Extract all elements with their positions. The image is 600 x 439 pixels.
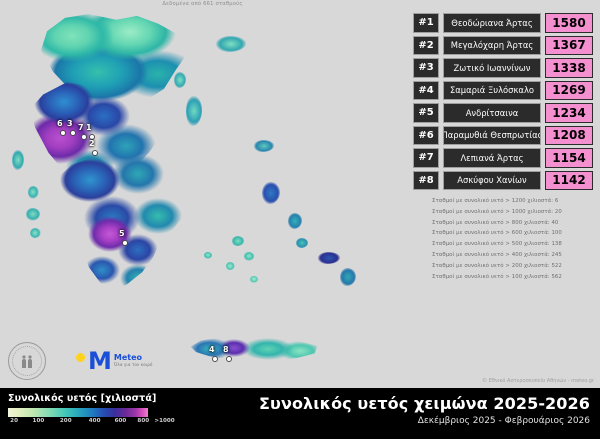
- meteo-tagline: Όλα για τον καιρό: [114, 363, 153, 367]
- table-row[interactable]: #4 Σαμαριά Ξυλόσκαλο 1269: [413, 81, 593, 101]
- meteo-logo: M Meteo Όλα για τον καιρό: [76, 351, 152, 371]
- station-cell: Μεγαλόχαρη Άρτας: [443, 36, 541, 56]
- map-marker-7[interactable]: [81, 134, 87, 140]
- table-row[interactable]: #1 Θεοδώριανα Άρτας 1580: [413, 13, 593, 33]
- value-cell: 1208: [545, 126, 593, 146]
- page-subtitle: Δεκέμβριος 2025 - Φεβρουάριος 2026: [259, 416, 590, 426]
- legend-title: Συνολικός υετός [χιλιοστά]: [8, 393, 188, 404]
- list-item: Σταθμοί με συνολικό υετό > 200 χιλιοστά:…: [432, 261, 600, 272]
- rank-cell: #3: [413, 58, 439, 78]
- map-marker-2[interactable]: [92, 150, 98, 156]
- rank-cell: #7: [413, 148, 439, 168]
- map-marker-5[interactable]: [122, 240, 128, 246]
- colorbar-legend: Συνολικός υετός [χιλιοστά] 20 100 200 40…: [8, 393, 188, 429]
- map-marker-label-2: 2: [89, 140, 95, 148]
- list-item: Σταθμοί με συνολικό υετό > 600 χιλιοστά:…: [432, 228, 600, 239]
- threshold-statistics-list: Σταθμοί με συνολικό υετό > 1200 χιλιοστά…: [432, 196, 600, 282]
- colorbar-tick-labels: 20 100 200 400 600 800 >1000: [8, 418, 160, 429]
- logo-group: M Meteo Όλα για τον καιρό: [8, 342, 152, 380]
- station-cell: Λεπιανά Άρτας: [443, 148, 541, 168]
- table-row[interactable]: #3 Ζωτικό Ιωαννίνων 1338: [413, 58, 593, 78]
- map-marker-label-1: 1: [86, 124, 92, 132]
- map-marker-3[interactable]: [70, 130, 76, 136]
- colorbar-tick: >1000: [154, 418, 174, 424]
- top-stations-table: #1 Θεοδώριανα Άρτας 1580 #2 Μεγαλόχαρη Ά…: [413, 13, 593, 193]
- list-item: Σταθμοί με συνολικό υετό > 1000 χιλιοστά…: [432, 207, 600, 218]
- colorbar-tick: 400: [89, 418, 101, 424]
- station-cell: Ζωτικό Ιωαννίνων: [443, 58, 541, 78]
- mainland-greece-landmass: [30, 14, 280, 274]
- rank-cell: #1: [413, 13, 439, 33]
- rank-cell: #2: [413, 36, 439, 56]
- map-panel[interactable]: Δεδομένα από 661 σταθμούς 6 3 7: [0, 0, 405, 388]
- map-marker-label-7: 7: [78, 124, 84, 132]
- map-marker-4[interactable]: [212, 356, 218, 362]
- list-item: Σταθμοί με συνολικό υετό > 1200 χιλιοστά…: [432, 196, 600, 207]
- station-cell: Σαμαριά Ξυλόσκαλο: [443, 81, 541, 101]
- map-marker-label-3: 3: [67, 120, 73, 128]
- map-marker-8[interactable]: [226, 356, 232, 362]
- value-cell: 1338: [545, 58, 593, 78]
- list-item: Σταθμοί με συνολικό υετό > 500 χιλιοστά:…: [432, 239, 600, 250]
- map-marker-label-8: 8: [223, 346, 229, 354]
- footer-title-group: Συνολικός υετός χειμώνα 2025-2026 Δεκέμβ…: [259, 394, 590, 426]
- colorbar-tick: 800: [137, 418, 149, 424]
- meteo-brand-name: Meteo: [114, 354, 153, 362]
- precipitation-map-page: Δεδομένα από 661 σταθμούς 6 3 7: [0, 0, 600, 439]
- value-cell: 1580: [545, 13, 593, 33]
- list-item: Σταθμοί με συνολικό υετό > 100 χιλιοστά:…: [432, 272, 600, 283]
- rank-cell: #6: [413, 126, 439, 146]
- meteo-letter-m: M: [88, 351, 111, 371]
- list-item: Σταθμοί με συνολικό υετό > 800 χιλιοστά:…: [432, 218, 600, 229]
- value-cell: 1234: [545, 103, 593, 123]
- station-cell: Θεοδώριανα Άρτας: [443, 13, 541, 33]
- table-row[interactable]: #8 Ασκύφου Χανίων 1142: [413, 171, 593, 191]
- rank-cell: #5: [413, 103, 439, 123]
- colorbar-tick: 600: [115, 418, 127, 424]
- colorbar-tick: 20: [10, 418, 18, 424]
- map-marker-6[interactable]: [60, 130, 66, 136]
- noa-figures-icon: [18, 353, 36, 371]
- station-cell: Παραμυθιά Θεσπρωτίας: [443, 126, 541, 146]
- station-cell: Ασκύφου Χανίων: [443, 171, 541, 191]
- map-top-attribution: Δεδομένα από 661 σταθμούς: [0, 1, 405, 7]
- footer-bar: Συνολικός υετός [χιλιοστά] 20 100 200 40…: [0, 388, 600, 439]
- colorbar-tick: 100: [33, 418, 45, 424]
- table-row[interactable]: #5 Ανδρίτσαινα 1234: [413, 103, 593, 123]
- map-marker-label-5: 5: [119, 230, 125, 238]
- table-row[interactable]: #2 Μεγαλόχαρη Άρτας 1367: [413, 36, 593, 56]
- copyright-attribution: © Εθνικό Αστεροσκοπείο Αθηνών - meteo.gr: [482, 378, 594, 384]
- map-marker-label-4: 4: [209, 346, 215, 354]
- side-panel: #1 Θεοδώριανα Άρτας 1580 #2 Μεγαλόχαρη Ά…: [405, 0, 600, 388]
- colorbar-gradient: [8, 408, 148, 417]
- value-cell: 1269: [545, 81, 593, 101]
- station-cell: Ανδρίτσαινα: [443, 103, 541, 123]
- table-row[interactable]: #7 Λεπιανά Άρτας 1154: [413, 148, 593, 168]
- page-title: Συνολικός υετός χειμώνα 2025-2026: [259, 394, 590, 413]
- noa-seal-icon: [8, 342, 46, 380]
- table-row[interactable]: #6 Παραμυθιά Θεσπρωτίας 1208: [413, 126, 593, 146]
- list-item: Σταθμοί με συνολικό υετό > 400 χιλιοστά:…: [432, 250, 600, 261]
- map-marker-label-6: 6: [57, 120, 63, 128]
- colorbar-tick: 200: [60, 418, 72, 424]
- value-cell: 1154: [545, 148, 593, 168]
- value-cell: 1367: [545, 36, 593, 56]
- rank-cell: #4: [413, 81, 439, 101]
- meteo-sun-icon: [76, 353, 85, 362]
- rank-cell: #8: [413, 171, 439, 191]
- value-cell: 1142: [545, 171, 593, 191]
